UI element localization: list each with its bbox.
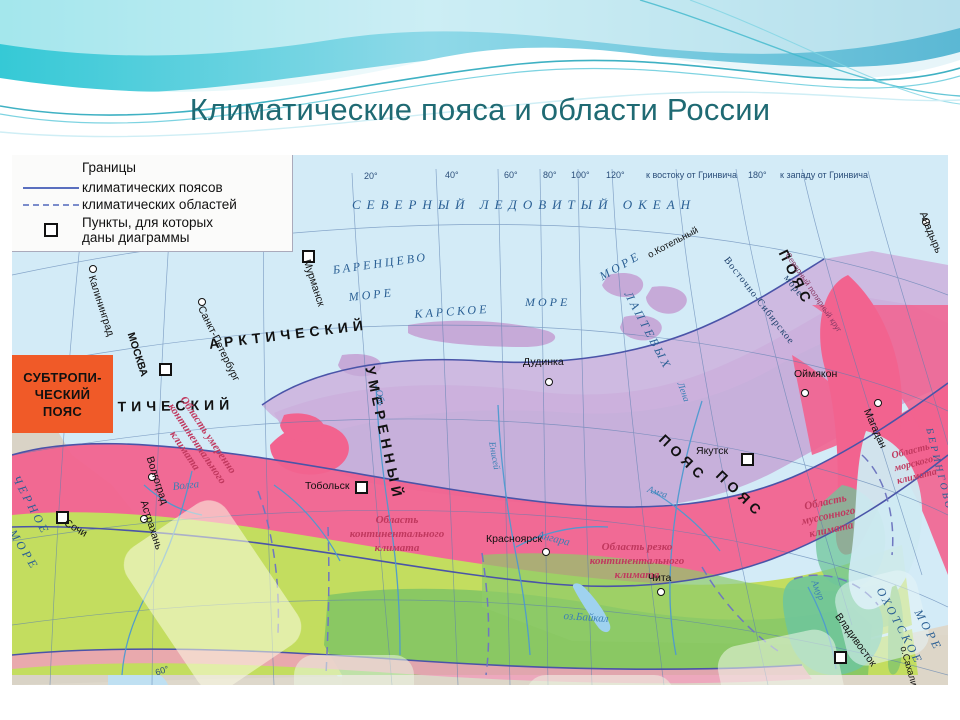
subtropical-belt-callout: СУБТРОПИ- ЧЕСКИЙ ПОЯС [12,355,113,433]
legend-points-line2: даны диаграммы [82,230,189,245]
legend-row-belts: климатических поясов [12,179,292,196]
square-marker-icon [20,223,82,237]
city-marker[interactable] [542,548,550,556]
city-marker[interactable] [159,363,172,376]
city-marker[interactable] [140,515,148,523]
city-marker[interactable] [56,511,69,524]
city-marker[interactable] [741,453,754,466]
callout-line2: ЧЕСКИЙ [12,386,113,403]
slide-root: Климатические пояса и области России [0,0,960,720]
city-marker[interactable] [302,250,315,263]
city-marker[interactable] [89,265,97,273]
legend-label-points: Пункты, для которых даны диаграммы [82,215,213,245]
city-marker[interactable] [545,378,553,386]
dashed-line-icon [20,204,82,206]
city-marker[interactable] [922,218,930,226]
legend-row-points: Пункты, для которых даны диаграммы [12,213,292,247]
legend-heading: Границы [12,160,292,179]
city-marker[interactable] [834,651,847,664]
city-marker[interactable] [801,389,809,397]
callout-line3: ПОЯС [12,403,113,420]
legend-label-areas: климатических областей [82,197,237,212]
city-marker[interactable] [198,298,206,306]
legend-label-belts: климатических поясов [82,180,223,195]
city-marker[interactable] [874,399,882,407]
legend-row-areas: климатических областей [12,196,292,213]
city-marker[interactable] [355,481,368,494]
city-marker[interactable] [148,473,156,481]
callout-line1: СУБТРОПИ- [12,369,113,386]
legend: Границы климатических поясов климатическ… [12,155,293,252]
page-title: Климатические пояса и области России [0,92,960,128]
solid-line-icon [20,187,82,189]
legend-points-line1: Пункты, для которых [82,215,213,230]
city-marker[interactable] [657,588,665,596]
